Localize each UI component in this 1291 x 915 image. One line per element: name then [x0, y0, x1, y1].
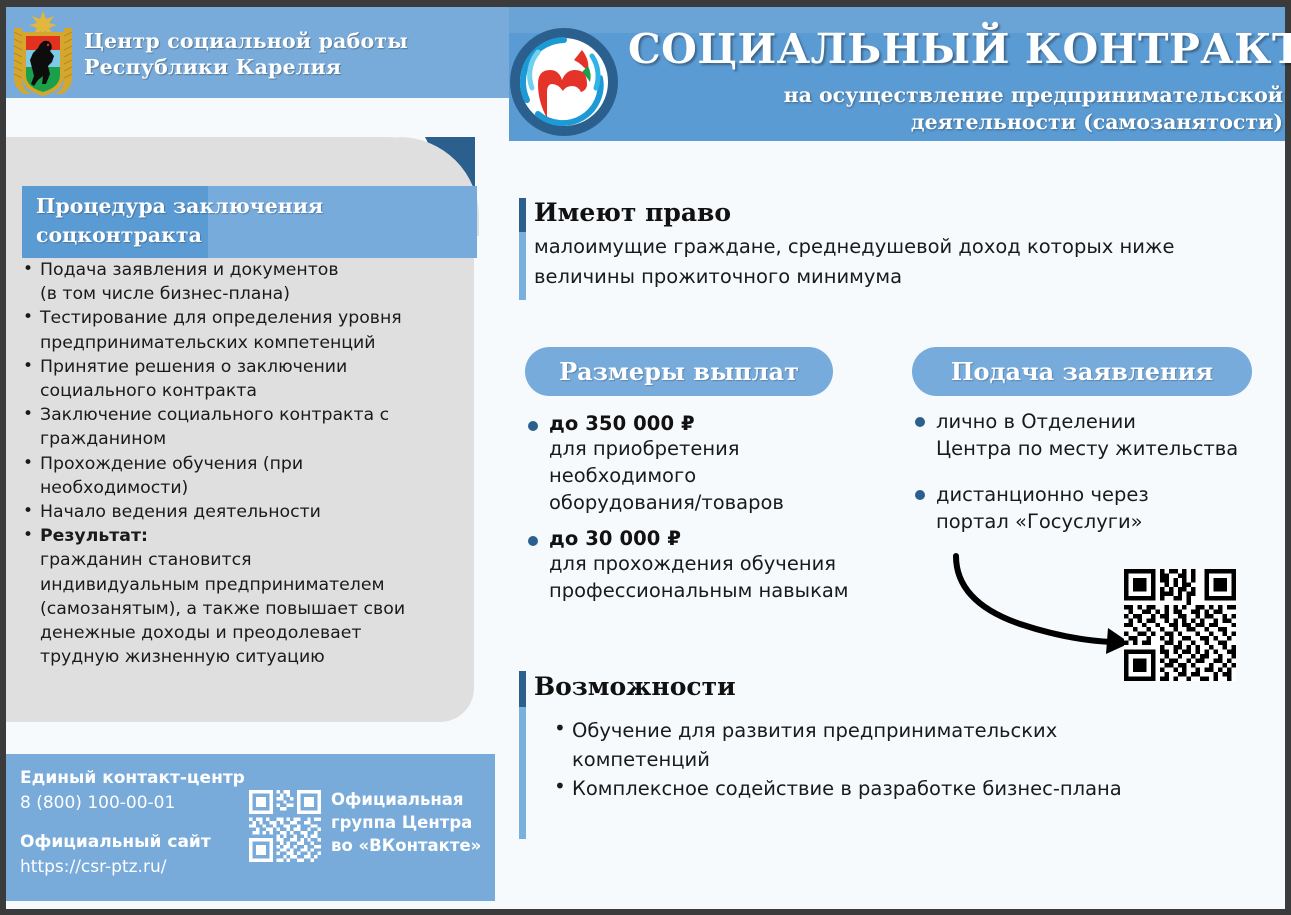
opportunities-title: Возможности	[534, 672, 736, 701]
poster-main-title: СОЦИАЛЬНЫЙ КОНТРАКТ	[628, 26, 1283, 73]
organization-title: Центр социальной работы Республики Карел…	[84, 28, 484, 80]
payment-item: до 30 000 ₽ для прохождения обучения про…	[525, 527, 905, 604]
procedure-list: Подача заявления и документов (в том чис…	[16, 258, 474, 669]
opportunities-accent-dark	[519, 671, 526, 707]
frame-right-border	[1285, 0, 1291, 915]
eligibility-title: Имеют право	[534, 198, 731, 227]
qr-code-icon[interactable]	[249, 790, 321, 862]
list-item: Обучение для развития предпринимательски…	[548, 716, 1188, 774]
application-list: лично в Отделении Центра по месту житель…	[912, 408, 1284, 554]
official-site-label: Официальный сайт	[20, 832, 211, 852]
payments-pill: Размеры выплат	[525, 347, 833, 396]
list-item: Комплексное содействие в разработке бизн…	[548, 774, 1188, 803]
procedure-heading: Процедура заключения соцконтракта	[36, 192, 456, 250]
social-contract-logo-icon	[508, 26, 620, 138]
list-item: Начало ведения деятельности	[16, 500, 474, 524]
list-item: Подача заявления и документов (в том чис…	[16, 258, 474, 306]
application-item: дистанционно через портал «Госуслуги»	[912, 481, 1284, 535]
payment-description: для приобретения необходимого оборудован…	[549, 437, 784, 514]
payment-amount: до 30 000 ₽	[549, 527, 681, 550]
payments-list: до 350 000 ₽ для приобретения необходимо…	[525, 412, 905, 615]
poster-subtitle: на осуществление предпринимательской дея…	[600, 82, 1283, 136]
contact-panel: Единый контакт-центр 8 (800) 100-00-01 О…	[6, 754, 495, 901]
frame-bottom-border	[0, 909, 1291, 915]
eligibility-accent-dark	[519, 198, 526, 232]
result-label: Результат:	[40, 526, 148, 546]
list-item: Принятие решения о заключении социальног…	[16, 355, 474, 403]
vk-group-caption: Официальная группа Центра во «ВКонтакте»	[331, 788, 501, 857]
application-item: лично в Отделении Центра по месту житель…	[912, 408, 1284, 462]
list-item-result: Результат: гражданин становится индивиду…	[16, 524, 474, 669]
payment-amount: до 350 000 ₽	[549, 412, 695, 435]
frame-top-border	[0, 0, 1291, 7]
call-center-label: Единый контакт-центр	[20, 768, 245, 788]
call-center-phone[interactable]: 8 (800) 100-00-01	[20, 793, 175, 813]
payment-item: до 350 000 ₽ для приобретения необходимо…	[525, 412, 905, 516]
list-item: Заключение социального контракта с гражд…	[16, 403, 474, 451]
official-site-url[interactable]: https://csr-ptz.ru/	[20, 857, 166, 877]
eligibility-body: малоимущие граждане, среднедушевой доход…	[534, 232, 1264, 292]
gosuslugi-qr-code-icon[interactable]	[1124, 569, 1236, 681]
eligibility-accent-light	[519, 232, 526, 300]
application-pill: Подача заявления	[912, 347, 1252, 396]
list-item: Прохождение обучения (при необходимости)	[16, 452, 474, 500]
karelia-coat-of-arms-icon	[10, 10, 76, 98]
opportunities-accent-light	[519, 707, 526, 839]
payment-description: для прохождения обучения профессиональны…	[549, 552, 849, 602]
list-item: Тестирование для определения уровня пред…	[16, 306, 474, 354]
poster-root: Центр социальной работы Республики Карел…	[0, 0, 1291, 915]
opportunities-list: Обучение для развития предпринимательски…	[548, 716, 1188, 803]
